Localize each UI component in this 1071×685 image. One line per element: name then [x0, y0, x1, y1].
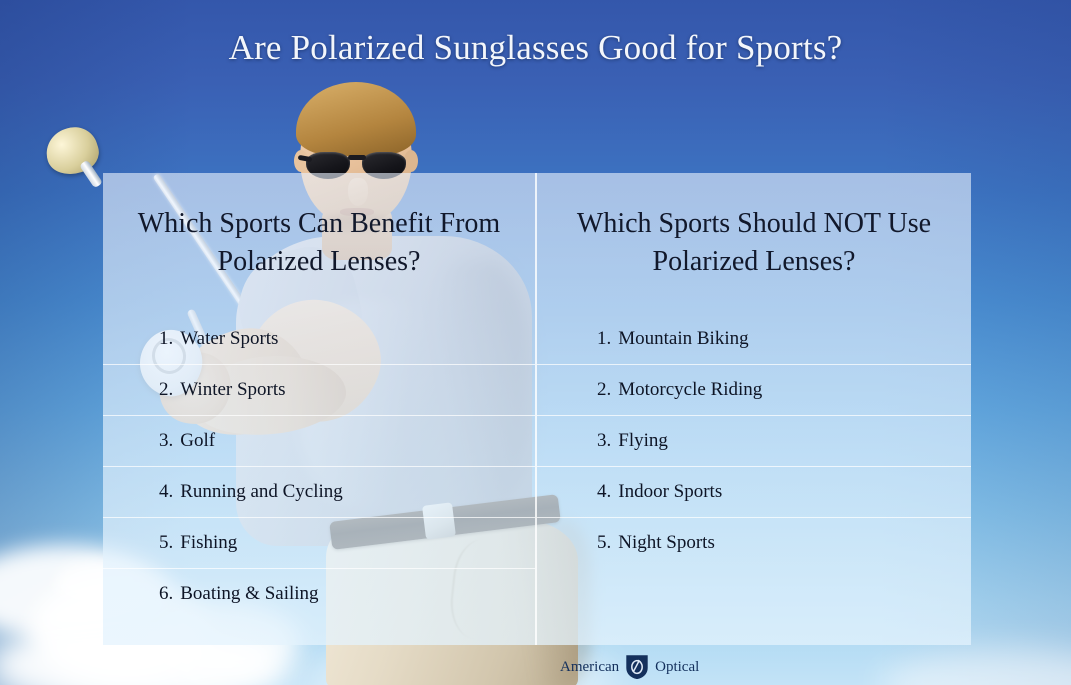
- list-item: 6. Boating & Sailing: [103, 568, 535, 619]
- list-item: 2. Winter Sports: [103, 364, 535, 415]
- list-item-label: Water Sports: [180, 328, 278, 350]
- list-item: 2. Motorcycle Riding: [537, 364, 971, 415]
- list-item: 4. Running and Cycling: [103, 466, 535, 517]
- infographic-poster: Are Polarized Sunglasses Good for Sports…: [0, 0, 1071, 685]
- column-benefit: Which Sports Can Benefit From Polarized …: [103, 173, 537, 645]
- list-item-label: Running and Cycling: [180, 481, 343, 503]
- list-item-label: Night Sports: [618, 532, 715, 554]
- list-item-number: 2.: [597, 379, 611, 401]
- hair: [296, 82, 416, 156]
- list-item-number: 5.: [159, 532, 173, 554]
- list-item-number: 3.: [159, 430, 173, 452]
- list-item-label: Fishing: [180, 532, 237, 554]
- list-item-label: Mountain Biking: [618, 328, 748, 350]
- list-item-number: 4.: [597, 481, 611, 503]
- list-item: 5. Night Sports: [537, 517, 971, 568]
- list-item-label: Winter Sports: [180, 379, 285, 401]
- list-item-label: Indoor Sports: [618, 481, 722, 503]
- brand-word-right: Optical: [655, 659, 699, 676]
- list-item: 5. Fishing: [103, 517, 535, 568]
- list-item: 1. Mountain Biking: [537, 313, 971, 364]
- list-item-number: 2.: [159, 379, 173, 401]
- brand-word-left: American: [560, 659, 619, 676]
- column-heading-benefit: Which Sports Can Benefit From Polarized …: [103, 173, 535, 313]
- page-title: Are Polarized Sunglasses Good for Sports…: [0, 28, 1071, 68]
- avoid-sports-list: 1. Mountain Biking 2. Motorcycle Riding …: [537, 313, 971, 568]
- list-item: 3. Flying: [537, 415, 971, 466]
- list-item-label: Flying: [618, 430, 668, 452]
- list-item: 4. Indoor Sports: [537, 466, 971, 517]
- shield-ao-icon: [626, 655, 648, 679]
- list-item-number: 3.: [597, 430, 611, 452]
- list-item-number: 1.: [597, 328, 611, 350]
- list-item-number: 6.: [159, 583, 173, 605]
- brand-logo: American Optical: [560, 655, 699, 679]
- column-heading-avoid: Which Sports Should NOT Use Polarized Le…: [537, 173, 971, 313]
- list-item-label: Boating & Sailing: [180, 583, 318, 605]
- list-item: 3. Golf: [103, 415, 535, 466]
- list-item-number: 1.: [159, 328, 173, 350]
- benefit-sports-list: 1. Water Sports 2. Winter Sports 3. Golf…: [103, 313, 535, 619]
- list-item: 1. Water Sports: [103, 313, 535, 364]
- sunglass-bridge: [348, 155, 366, 160]
- list-item-label: Golf: [180, 430, 215, 452]
- list-item-label: Motorcycle Riding: [618, 379, 762, 401]
- list-item-number: 5.: [597, 532, 611, 554]
- comparison-panel: Which Sports Can Benefit From Polarized …: [103, 173, 971, 645]
- column-avoid: Which Sports Should NOT Use Polarized Le…: [537, 173, 971, 645]
- list-item-number: 4.: [159, 481, 173, 503]
